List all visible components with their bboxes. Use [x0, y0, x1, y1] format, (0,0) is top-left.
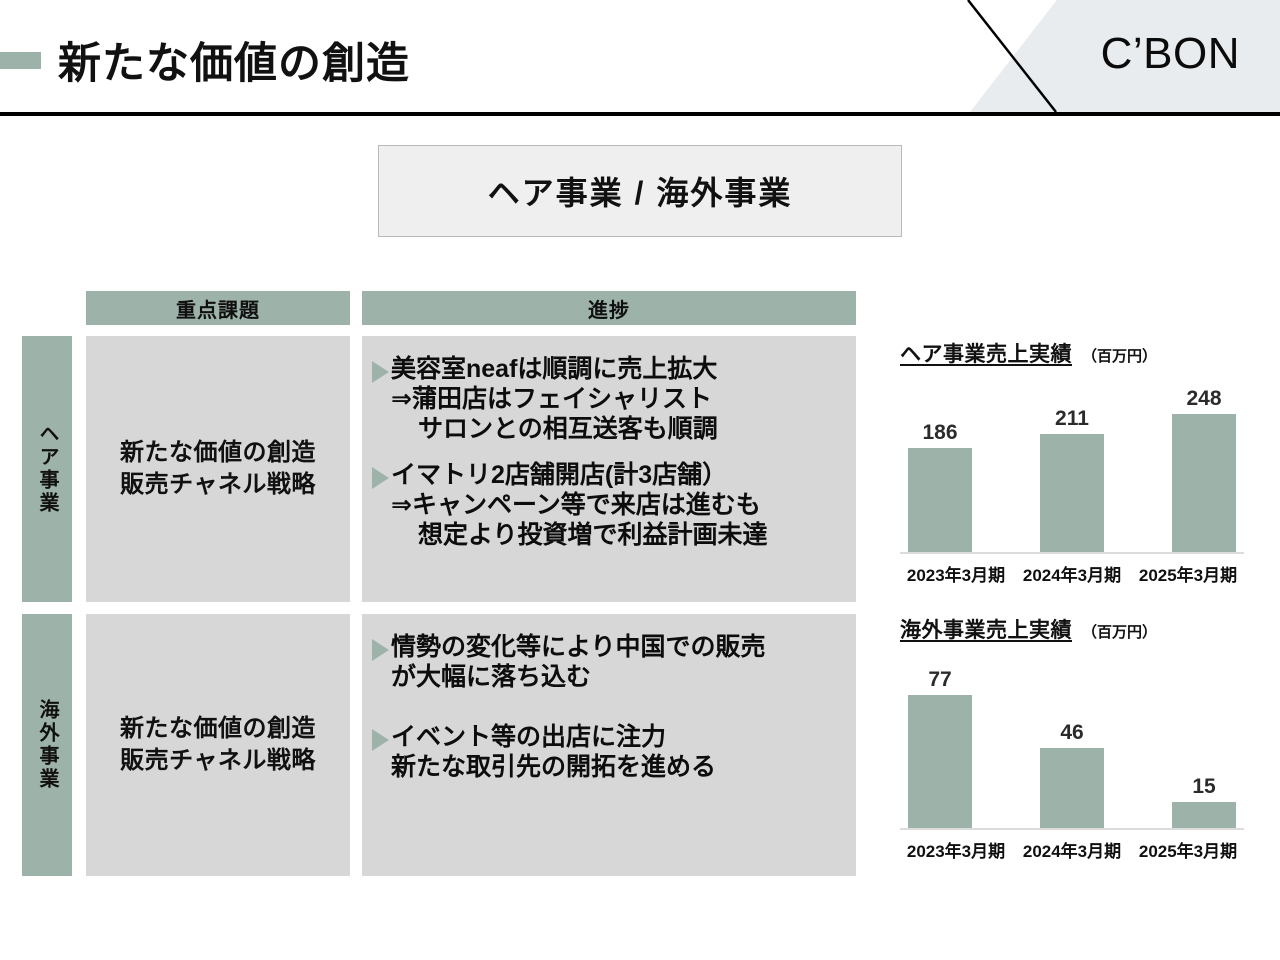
row-side-label-overseas-text: 海外事業 — [37, 699, 57, 791]
bullet-headline: イマトリ2店舗開店(計3店舗） — [391, 460, 727, 490]
page-title: 新たな価値の創造 — [58, 29, 410, 91]
triangle-bullet-icon — [372, 729, 389, 751]
bullet-headline-row: イベント等の出店に注力 — [372, 722, 846, 752]
chart-hair-sales: ヘア事業売上実績 （百万円） 186 211 248 202 — [900, 338, 1256, 586]
issue-cell-overseas: 新たな価値の創造 販売チャネル戦略 — [86, 614, 350, 876]
brand-logo-text: C’BON — [1101, 29, 1240, 79]
x-tick-label: 2025年3月期 — [1132, 837, 1244, 862]
bar-value-label: 248 — [1186, 388, 1221, 409]
bar-value-label: 15 — [1192, 776, 1215, 797]
bar-value-label: 77 — [928, 669, 951, 690]
chart-hair-title: ヘア事業売上実績 — [900, 338, 1072, 368]
chart-overseas-unit: （百万円） — [1082, 621, 1157, 642]
row-side-label-hair-text: ヘア事業 — [37, 423, 57, 515]
bar-value-label: 186 — [922, 422, 957, 443]
column-header-progress-label: 進捗 — [588, 294, 630, 323]
triangle-bullet-icon — [372, 467, 389, 489]
bar-rect — [1172, 802, 1236, 828]
bar-rect — [908, 448, 972, 552]
x-tick-label: 2024年3月期 — [1016, 561, 1128, 586]
chart-overseas-sales: 海外事業売上実績 （百万円） 77 46 15 2023年3 — [900, 614, 1256, 866]
section-title-label: ヘア事業 / 海外事業 — [488, 168, 793, 214]
bullet-group: 情勢の変化等により中国での販売 が大幅に落ち込む — [372, 632, 846, 692]
bullet-group: 美容室neafは順調に売上拡大 ⇒蒲田店はフェイシャリスト サロンとの相互送客も… — [372, 354, 846, 444]
row-side-label-overseas: 海外事業 — [22, 614, 72, 876]
bullet-subline: が大幅に落ち込む — [372, 662, 846, 692]
triangle-bullet-icon — [372, 639, 389, 661]
bar-column: 15 — [1172, 776, 1236, 828]
chart-hair-bars: 186 211 248 — [900, 376, 1244, 552]
slide: 新たな価値の創造 C’BON ヘア事業 / 海外事業 重点課題 進捗 ヘア事業 … — [0, 0, 1280, 960]
chart-overseas-title: 海外事業売上実績 — [900, 614, 1072, 644]
bullet-subline: ⇒キャンペーン等で来店は進むも — [372, 490, 846, 520]
chart-hair-baseline — [900, 552, 1244, 554]
bullet-headline-row: 美容室neafは順調に売上拡大 — [372, 354, 846, 384]
bar-rect — [908, 695, 972, 828]
bar-rect — [1172, 414, 1236, 552]
bullet-headline: 美容室neafは順調に売上拡大 — [391, 354, 717, 384]
bar-value-label: 211 — [1055, 408, 1089, 429]
bullet-subline: 新たな取引先の開拓を進める — [372, 752, 846, 782]
chart-overseas-bars: 77 46 15 — [900, 652, 1244, 828]
chart-overseas-plot-area: 77 46 15 — [900, 652, 1244, 830]
x-tick-label: 2023年3月期 — [900, 837, 1012, 862]
chart-hair-title-row: ヘア事業売上実績 （百万円） — [900, 338, 1256, 368]
bullet-group: イマトリ2店舗開店(計3店舗） ⇒キャンペーン等で来店は進むも 想定より投資増で… — [372, 460, 846, 550]
x-tick-label: 2025年3月期 — [1132, 561, 1244, 586]
progress-cell-overseas: 情勢の変化等により中国での販売 が大幅に落ち込む イベント等の出店に注力 新たな… — [362, 614, 856, 876]
bullet-headline-row: 情勢の変化等により中国での販売 — [372, 632, 846, 662]
bar-rect — [1040, 434, 1104, 552]
section-title-box: ヘア事業 / 海外事業 — [378, 145, 902, 237]
bar-column: 186 — [908, 422, 972, 552]
chart-hair-xaxis: 2023年3月期 2024年3月期 2025年3月期 — [900, 561, 1244, 586]
column-header-issues: 重点課題 — [86, 291, 350, 325]
bar-column: 211 — [1040, 408, 1104, 552]
issue-line: 新たな価値の創造 — [120, 713, 316, 745]
bullet-headline: イベント等の出店に注力 — [391, 722, 666, 752]
chart-overseas-title-row: 海外事業売上実績 （百万円） — [900, 614, 1256, 644]
issue-line: 新たな価値の創造 — [120, 437, 316, 469]
bar-column: 77 — [908, 669, 972, 828]
x-tick-label: 2024年3月期 — [1016, 837, 1128, 862]
bullet-headline: 情勢の変化等により中国での販売 — [391, 632, 766, 662]
chart-overseas-baseline — [900, 828, 1244, 830]
issue-cell-hair: 新たな価値の創造 販売チャネル戦略 — [86, 336, 350, 602]
chart-hair-unit: （百万円） — [1082, 345, 1157, 366]
column-header-progress: 進捗 — [362, 291, 856, 325]
issue-line: 販売チャネル戦略 — [120, 745, 316, 777]
progress-cell-hair: 美容室neafは順調に売上拡大 ⇒蒲田店はフェイシャリスト サロンとの相互送客も… — [362, 336, 856, 602]
bar-column: 46 — [1040, 722, 1104, 828]
bar-rect — [1040, 748, 1104, 828]
title-accent-bar — [0, 52, 41, 69]
bar-value-label: 46 — [1060, 722, 1083, 743]
bullet-subline: 想定より投資増で利益計画未達 — [372, 520, 846, 550]
bullet-headline-row: イマトリ2店舗開店(計3店舗） — [372, 460, 846, 490]
triangle-bullet-icon — [372, 361, 389, 383]
bar-column: 248 — [1172, 388, 1236, 552]
header-divider-rule — [0, 112, 1280, 116]
slide-header: 新たな価値の創造 C’BON — [0, 0, 1280, 116]
chart-hair-plot-area: 186 211 248 — [900, 376, 1244, 554]
issue-line: 販売チャネル戦略 — [120, 469, 316, 501]
column-header-issues-label: 重点課題 — [176, 294, 260, 323]
chart-overseas-xaxis: 2023年3月期 2024年3月期 2025年3月期 — [900, 837, 1244, 862]
row-side-label-hair: ヘア事業 — [22, 336, 72, 602]
x-tick-label: 2023年3月期 — [900, 561, 1012, 586]
bullet-group: イベント等の出店に注力 新たな取引先の開拓を進める — [372, 722, 846, 782]
bullet-subline: ⇒蒲田店はフェイシャリスト — [372, 384, 846, 414]
bullet-subline: サロンとの相互送客も順調 — [372, 414, 846, 444]
